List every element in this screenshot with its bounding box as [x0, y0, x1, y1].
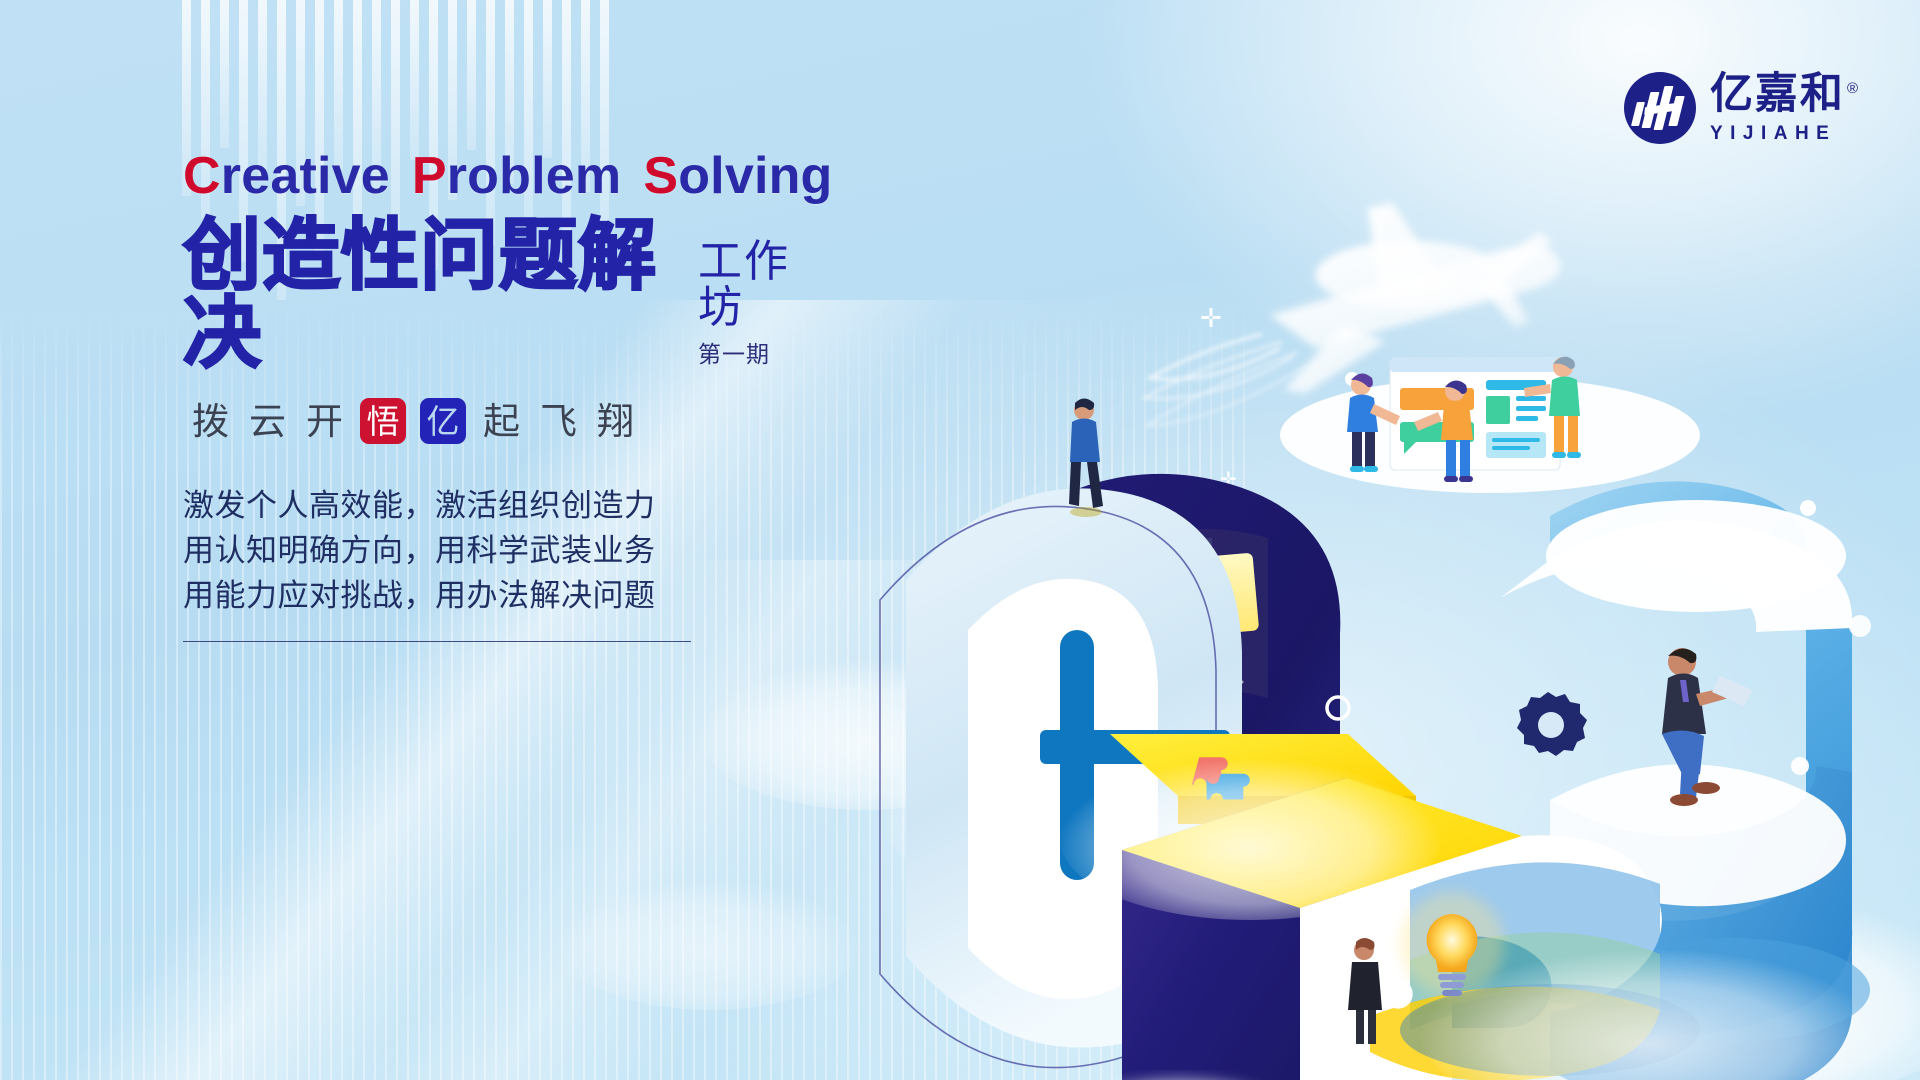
slogan-char: 拨 [183, 403, 238, 440]
workshop-label: 工作坊 [698, 239, 823, 331]
chinese-title: 创造性问题解决 [183, 216, 684, 372]
english-title-initial: C [183, 147, 221, 205]
registered-trademark-icon: ® [1847, 80, 1860, 97]
english-title-word: Creative [183, 150, 390, 202]
slogan-char: 起 [474, 403, 529, 440]
yijiahe-emblem-icon [1624, 72, 1696, 144]
english-title: CreativeProblemSolving [183, 150, 823, 202]
slogan-char: 开 [297, 403, 352, 440]
cloud-blob [560, 880, 860, 1010]
logo-chinese-text: 亿嘉和 [1710, 70, 1845, 118]
whiteboard-scene [1280, 357, 1700, 493]
logo-wordmark: 亿嘉和® YIJIAHE [1710, 73, 1860, 143]
headline-block: CreativeProblemSolving 创造性问题解决 工作坊 第一期 拨… [183, 150, 823, 642]
brand-logo[interactable]: 亿嘉和® YIJIAHE [1624, 72, 1860, 144]
whiteboard-icon [1390, 358, 1560, 470]
english-title-initial: S [643, 147, 678, 205]
english-title-initial: P [412, 147, 447, 205]
chinese-title-row: 创造性问题解决 工作坊 第一期 [183, 216, 823, 372]
body-line: 激发个人高效能，激活组织创造力 [183, 484, 823, 529]
slogan-char-highlight-blue: 亿 [420, 398, 466, 444]
slogan-char: 云 [240, 403, 295, 440]
body-line: 用认知明确方向，用科学武装业务 [183, 529, 823, 574]
logo-chinese-name: 亿嘉和® [1710, 73, 1860, 116]
phase-label: 第一期 [698, 335, 823, 369]
sparkle-icon: ✛ [1200, 305, 1222, 331]
english-title-rest: reative [221, 147, 390, 205]
english-title-rest: olving [678, 147, 832, 205]
lightbulb-icon [1400, 892, 1504, 996]
body-line: 用能力应对挑战，用办法解决问题 [183, 574, 823, 619]
body-copy: 激发个人高效能，激活组织创造力 用认知明确方向，用科学武装业务 用能力应对挑战，… [183, 484, 823, 619]
english-title-word: Problem [412, 150, 621, 202]
slogan-row: 拨 云 开 悟 亿 起 飞 翔 [183, 398, 823, 444]
english-title-rest: roblem [447, 147, 622, 205]
gear-icon [1517, 692, 1587, 756]
isometric-illustration [850, 330, 1920, 1080]
slogan-char: 翔 [588, 403, 643, 440]
workshop-subtitle-group: 工作坊 第一期 [698, 239, 823, 372]
laptop-icon [1712, 676, 1752, 706]
divider [183, 641, 691, 643]
illustration-svg [850, 330, 1920, 1080]
slogan-char-highlight-red: 悟 [360, 398, 406, 444]
poster-canvas: ✛ ✛ CreativeProblemSolving 创造性问 [0, 0, 1920, 1080]
slogan-char: 飞 [531, 403, 586, 440]
english-title-word: Solving [643, 150, 832, 202]
logo-english-name: YIJIAHE [1710, 124, 1860, 143]
